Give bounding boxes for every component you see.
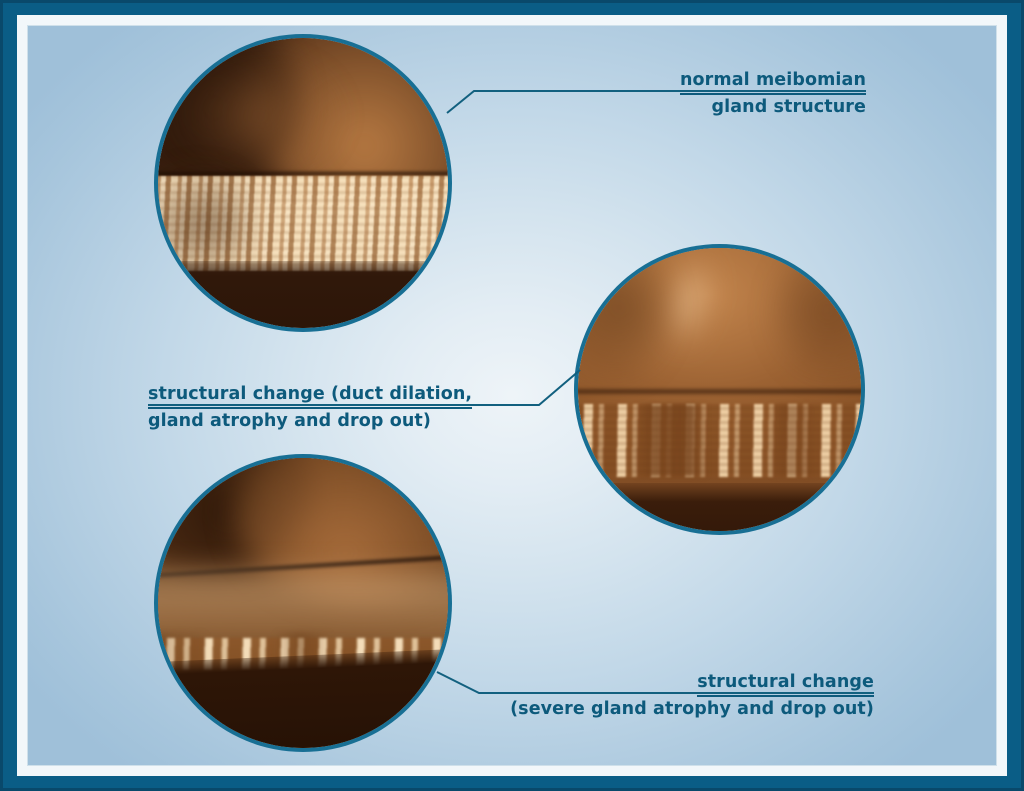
gland-vertical-striae-moderate bbox=[578, 404, 861, 478]
figure-root: normal meibomian gland structure structu… bbox=[0, 0, 1024, 791]
lash-line-shadow-normal bbox=[158, 261, 448, 328]
label-normal-meibomian-gland-structure: normal meibomian gland structure bbox=[680, 68, 866, 119]
label-moderate-line-2: gland atrophy and drop out) bbox=[148, 409, 472, 433]
label-structural-change-moderate: structural change (duct dilation, gland … bbox=[148, 382, 472, 433]
meibography-image-normal bbox=[158, 38, 448, 328]
lash-line-shadow-moderate bbox=[578, 483, 861, 531]
meibography-image-normal-inner bbox=[158, 38, 448, 328]
label-normal-line-1: normal meibomian bbox=[680, 68, 866, 95]
conjunctival-fold-normal bbox=[175, 55, 343, 177]
meibography-image-severe bbox=[158, 458, 448, 748]
label-severe-line-1: structural change bbox=[510, 670, 874, 697]
label-normal-line-2: gland structure bbox=[680, 95, 866, 119]
meibography-image-moderate bbox=[578, 248, 861, 531]
label-severe-line-2: (severe gland atrophy and drop out) bbox=[510, 697, 874, 721]
meibography-image-moderate-inner bbox=[578, 248, 861, 531]
lash-line-shadow-severe bbox=[158, 647, 448, 748]
label-structural-change-severe: structural change (severe gland atrophy … bbox=[510, 670, 874, 721]
lid-margin-crease-moderate bbox=[578, 387, 861, 396]
meibography-image-severe-inner bbox=[158, 458, 448, 748]
label-moderate-line-1: structural change (duct dilation, bbox=[148, 382, 472, 409]
